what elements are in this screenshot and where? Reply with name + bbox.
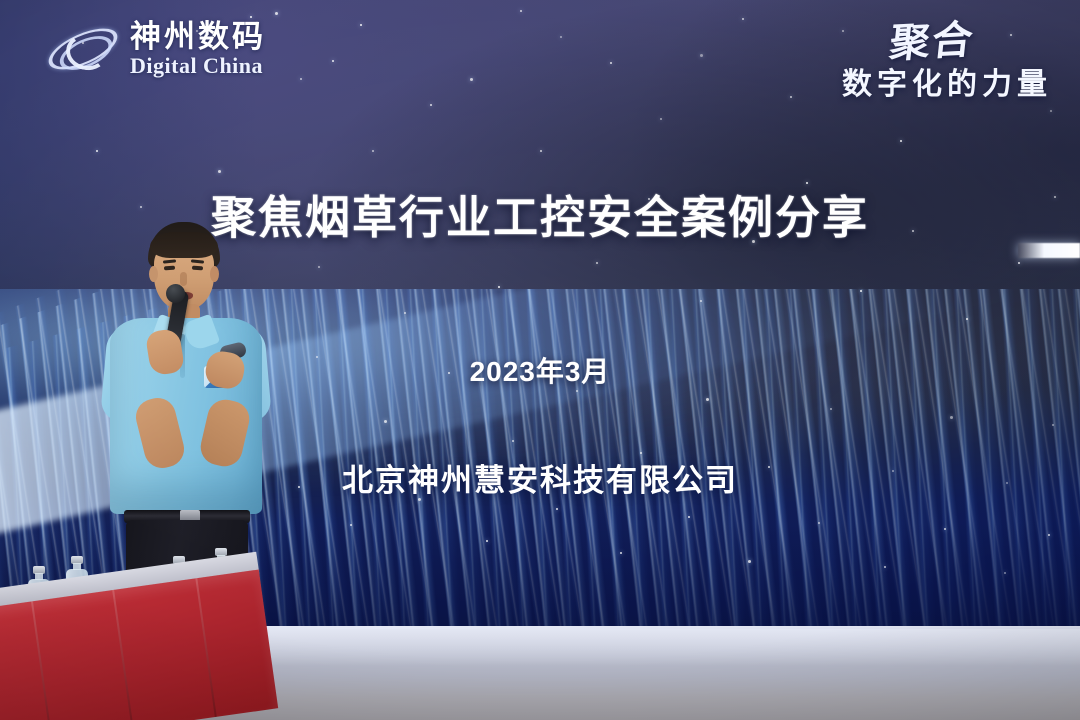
- particle-dot: [660, 118, 662, 120]
- particle-dot: [350, 524, 352, 526]
- speaker-nose: [180, 272, 187, 286]
- brand-name-cn: 神州数码: [130, 21, 266, 52]
- particle-dot: [1048, 534, 1050, 536]
- particle-dot: [1050, 110, 1052, 112]
- particle-dot: [1004, 572, 1006, 574]
- particle-dot: [332, 60, 334, 62]
- particle-dot: [96, 150, 98, 152]
- particle-dot: [706, 398, 709, 401]
- particle-dot: [498, 286, 500, 288]
- particle-dot: [884, 566, 886, 568]
- particle-dot: [688, 516, 690, 518]
- particle-dot: [576, 390, 578, 392]
- particle-dot: [966, 318, 968, 320]
- event-theme-calligraphy: 聚合: [888, 20, 977, 64]
- particle-dot: [218, 170, 221, 173]
- particle-dot: [318, 266, 320, 268]
- particle-dot: [404, 312, 406, 314]
- speaker-hair-front: [150, 232, 218, 258]
- particle-dot: [384, 420, 387, 423]
- conference-stage-photo: 神州数码 Digital China 聚合 数字化的力量 聚焦烟草行业工控安全案…: [0, 0, 1080, 720]
- particle-dot: [790, 96, 792, 98]
- particle-dot: [1052, 424, 1054, 426]
- particle-dot: [742, 18, 744, 20]
- particle-dot: [540, 150, 542, 152]
- particle-dot: [640, 452, 642, 454]
- particle-dot: [1018, 262, 1020, 264]
- particle-dot: [700, 54, 703, 57]
- speaker-eye-left: [164, 266, 175, 271]
- particle-dot: [748, 560, 751, 563]
- event-theme-subtitle: 数字化的力量: [842, 68, 1052, 101]
- particle-dot: [300, 78, 302, 80]
- particle-dot: [560, 36, 562, 38]
- particle-dot: [556, 508, 558, 510]
- swirl-galaxy-logo-icon: [46, 20, 120, 78]
- speaker-eye-right: [192, 266, 203, 271]
- event-theme: 聚合 数字化的力量: [842, 22, 1052, 101]
- particle-dot: [950, 416, 953, 419]
- brand-logo-text: 神州数码 Digital China: [130, 21, 266, 77]
- particle-dot: [486, 540, 488, 542]
- speaker-ear-left: [149, 266, 158, 282]
- particle-dot: [372, 150, 374, 152]
- particle-dot: [360, 24, 362, 26]
- brand-name-en: Digital China: [130, 55, 266, 77]
- particle-dot: [900, 140, 902, 142]
- particle-dot: [596, 262, 598, 264]
- particle-dot: [700, 300, 702, 302]
- speaker-ear-right: [210, 266, 219, 282]
- particle-dot: [430, 104, 432, 106]
- particle-dot: [830, 408, 832, 410]
- particle-dot: [620, 552, 622, 554]
- particle-dot: [860, 290, 862, 292]
- particle-dot: [818, 522, 820, 524]
- particle-dot: [610, 62, 612, 64]
- particle-dot: [512, 440, 514, 442]
- particle-dot: [275, 12, 278, 15]
- particle-dot: [470, 78, 473, 81]
- brand-logo: 神州数码 Digital China: [46, 20, 266, 78]
- particle-dot: [250, 16, 252, 18]
- particle-dot: [520, 10, 522, 12]
- particle-dot: [944, 528, 946, 530]
